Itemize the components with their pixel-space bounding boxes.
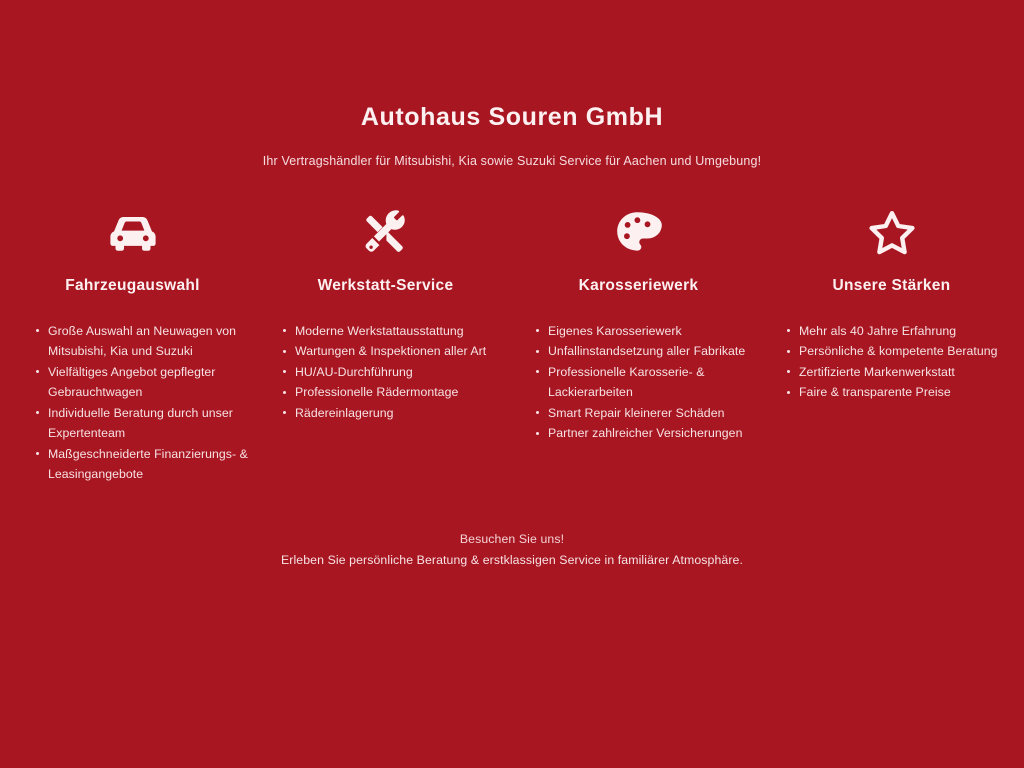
- list-item: Große Auswahl an Neuwagen von Mitsubishi…: [34, 321, 259, 362]
- list-item: Wartungen & Inspektionen aller Art: [281, 341, 506, 362]
- feature-column-unsere-staerken: Unsere Stärken Mehr als 40 Jahre Erfahru…: [765, 207, 1018, 485]
- column-heading: Unsere Stärken: [833, 277, 951, 296]
- header: Autohaus Souren GmbH Ihr Vertragshändler…: [0, 0, 1024, 169]
- feature-column-werkstatt-service: Werkstatt-Service Moderne Werkstattausst…: [259, 207, 512, 485]
- page-subtitle: Ihr Vertragshändler für Mitsubishi, Kia …: [0, 153, 1024, 169]
- feature-list: Moderne Werkstattausstattung Wartungen &…: [273, 321, 510, 424]
- list-item: Zertifizierte Markenwerkstatt: [785, 362, 1010, 383]
- paint-palette-icon: [616, 207, 662, 259]
- list-item: HU/AU-Durchführung: [281, 362, 506, 383]
- list-item: Maßgeschneiderte Finanzierungs- & Leasin…: [34, 444, 259, 485]
- tools-icon: [363, 207, 409, 259]
- list-item: Persönliche & kompetente Beratung: [785, 341, 1010, 362]
- feature-list: Eigenes Karosseriewerk Unfallinstandsetz…: [526, 321, 765, 444]
- list-item: Unfallinstandsetzung aller Fabrikate: [534, 341, 759, 362]
- footer-description: Erleben Sie persönliche Beratung & erstk…: [0, 550, 1024, 571]
- column-heading: Karosseriewerk: [579, 277, 699, 296]
- list-item: Moderne Werkstattausstattung: [281, 321, 506, 342]
- footer: Besuchen Sie uns! Erleben Sie persönlich…: [0, 529, 1024, 571]
- list-item: Professionelle Rädermontage: [281, 382, 506, 403]
- list-item: Rädereinlagerung: [281, 403, 506, 424]
- feature-column-fahrzeugauswahl: Fahrzeugauswahl Große Auswahl an Neuwage…: [6, 207, 259, 485]
- list-item: Mehr als 40 Jahre Erfahrung: [785, 321, 1010, 342]
- feature-list: Mehr als 40 Jahre Erfahrung Persönliche …: [779, 321, 1010, 403]
- page-title: Autohaus Souren GmbH: [0, 102, 1024, 132]
- list-item: Individuelle Beratung durch unser Expert…: [34, 403, 259, 444]
- list-item: Partner zahlreicher Versicherungen: [534, 423, 759, 444]
- feature-columns: Fahrzeugauswahl Große Auswahl an Neuwage…: [0, 207, 1024, 485]
- list-item: Faire & transparente Preise: [785, 382, 1010, 403]
- column-heading: Werkstatt-Service: [318, 277, 454, 296]
- promo-panel: Autohaus Souren GmbH Ihr Vertragshändler…: [0, 0, 1024, 768]
- list-item: Smart Repair kleinerer Schäden: [534, 403, 759, 424]
- list-item: Vielfältiges Angebot gepflegter Gebrauch…: [34, 362, 259, 403]
- list-item: Eigenes Karosseriewerk: [534, 321, 759, 342]
- column-heading: Fahrzeugauswahl: [65, 277, 200, 296]
- star-icon: [868, 207, 916, 259]
- feature-list: Große Auswahl an Neuwagen von Mitsubishi…: [20, 321, 269, 485]
- list-item: Professionelle Karosserie- & Lackierarbe…: [534, 362, 759, 403]
- feature-column-karosseriewerk: Karosseriewerk Eigenes Karosseriewerk Un…: [512, 207, 765, 485]
- footer-call-to-action: Besuchen Sie uns!: [0, 529, 1024, 550]
- car-icon: [108, 207, 158, 259]
